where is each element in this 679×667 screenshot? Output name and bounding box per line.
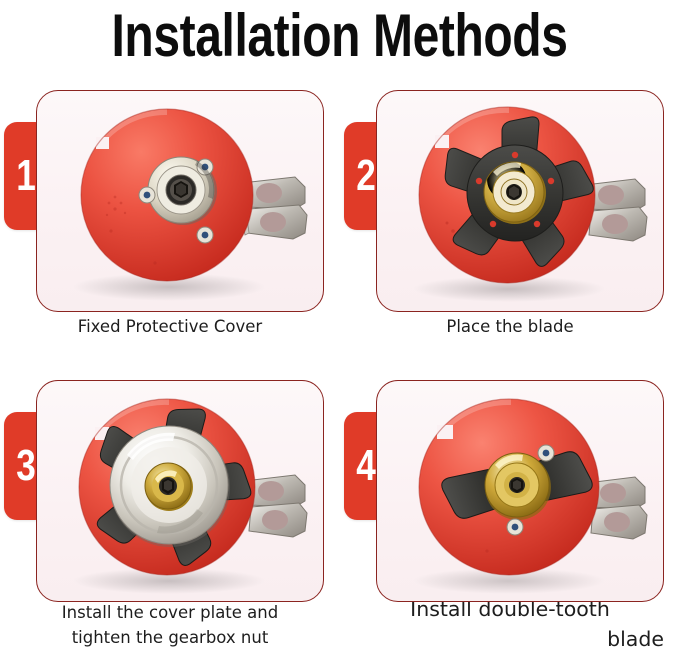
step-card-2: 2: [340, 82, 679, 374]
step-photo-card-1: [36, 90, 324, 312]
step-photo-card-4: [376, 380, 664, 602]
double-tooth-blade-on-red-disc-image: [377, 381, 663, 601]
step-photo-card-3: [36, 380, 324, 602]
step-caption-4-line-2: blade: [350, 624, 670, 654]
page-title: Installation Methods: [68, 0, 611, 72]
steps-grid: 1: [0, 82, 679, 667]
chrome-cover-plate-over-blade-image: [37, 381, 323, 601]
step-caption-3-line-1: Install the cover plate and: [10, 600, 330, 625]
step-photo-card-2: [376, 90, 664, 312]
step-card-4: 4: [340, 372, 679, 664]
step-caption-3-line-2: tighten the gearbox nut: [10, 625, 330, 650]
step-caption-3: Install the cover plate and tighten the …: [10, 600, 330, 650]
step-card-1: 1: [0, 82, 339, 374]
red-protective-cover-disc-with-metal-hub-image: [37, 91, 323, 311]
step-caption-4: Install double-tooth blade: [350, 594, 670, 654]
step-caption-1: Fixed Protective Cover: [10, 314, 330, 339]
step-card-3: 3: [0, 372, 339, 664]
step-caption-2-line-1: Place the blade: [350, 314, 670, 339]
step-caption-2: Place the blade: [350, 314, 670, 339]
installation-methods-infographic: Installation Methods 1: [0, 0, 679, 667]
step-caption-1-line-1: Fixed Protective Cover: [10, 314, 330, 339]
five-arm-blade-on-red-disc-image: [377, 91, 663, 311]
